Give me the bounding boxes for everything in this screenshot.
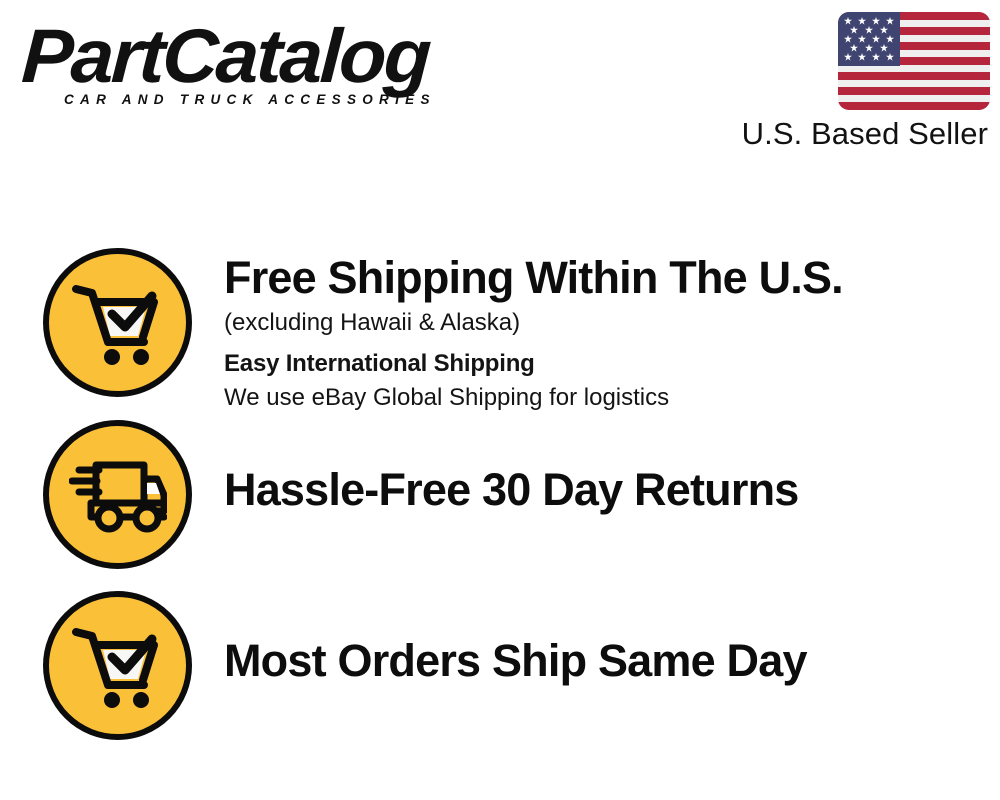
brand-wordmark: PartCatalog <box>20 18 504 96</box>
star-icon <box>872 53 880 61</box>
benefit-text: Most Orders Ship Same Day <box>224 591 1000 687</box>
shopping-cart-check-icon <box>43 591 192 740</box>
benefit-text: Hassle-Free 30 Day Returns <box>224 420 1000 516</box>
star-icon <box>858 35 866 43</box>
benefit-row: Hassle-Free 30 Day Returns <box>0 420 1000 569</box>
star-icon <box>872 35 880 43</box>
star-icon <box>858 53 866 61</box>
star-icon <box>886 35 894 43</box>
star-icon <box>880 26 888 34</box>
star-icon <box>844 17 852 25</box>
benefit-subtext-bold: Easy International Shipping <box>224 347 1000 381</box>
star-icon <box>865 26 873 34</box>
star-icon <box>850 26 858 34</box>
benefit-row: Most Orders Ship Same Day <box>0 591 1000 740</box>
page-header: PartCatalog CAR AND TRUCK ACCESSORIES <box>0 0 1000 175</box>
benefit-text: Free Shipping Within The U.S. (excluding… <box>224 248 1000 415</box>
benefit-heading: Most Orders Ship Same Day <box>224 635 1000 687</box>
us-flag-icon <box>838 12 990 110</box>
us-based-seller-label: U.S. Based Seller <box>742 116 988 152</box>
star-icon <box>850 44 858 52</box>
star-icon <box>886 53 894 61</box>
benefit-subtext: (excluding Hawaii & Alaska) <box>224 306 1000 340</box>
star-icon <box>844 35 852 43</box>
star-icon <box>880 44 888 52</box>
star-icon <box>865 44 873 52</box>
shopping-cart-check-icon <box>43 248 192 397</box>
benefit-heading: Hassle-Free 30 Day Returns <box>224 464 1000 516</box>
brand-logo[interactable]: PartCatalog CAR AND TRUCK ACCESSORIES <box>24 18 494 118</box>
star-icon <box>886 17 894 25</box>
benefit-subtext: We use eBay Global Shipping for logistic… <box>224 381 1000 415</box>
delivery-truck-icon <box>43 420 192 569</box>
benefit-row: Free Shipping Within The U.S. (excluding… <box>0 248 1000 415</box>
flag-canton <box>838 12 900 66</box>
star-icon <box>858 17 866 25</box>
star-icon <box>844 53 852 61</box>
benefit-heading: Free Shipping Within The U.S. <box>224 252 1000 304</box>
star-icon <box>872 17 880 25</box>
